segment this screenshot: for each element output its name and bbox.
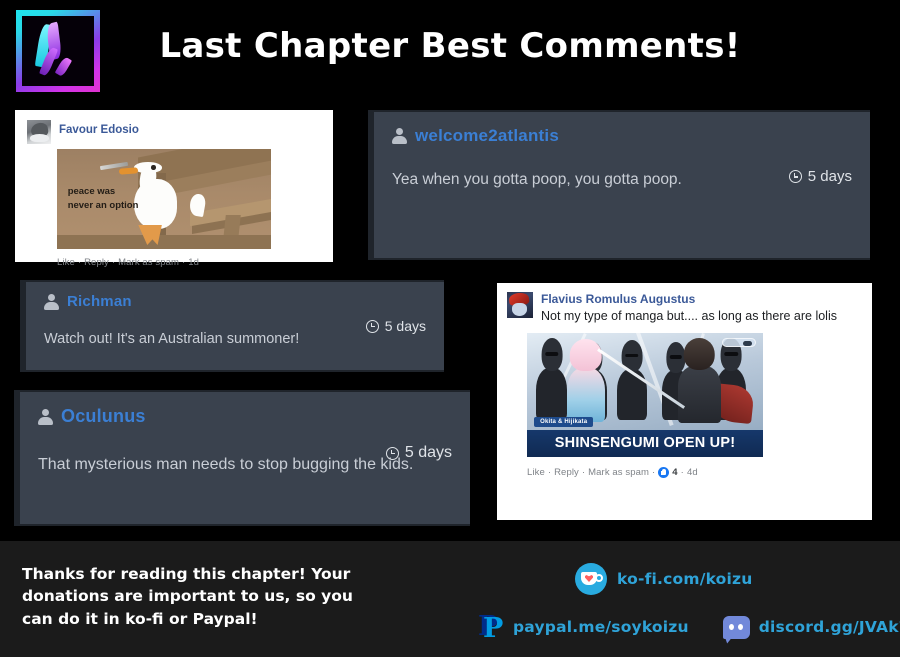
discord-link[interactable]: discord.gg/JVAk7Gk — [723, 616, 900, 639]
comment-timestamp: 5 days — [386, 444, 452, 462]
meme-bottom-bar: SHINSENGUMI OPEN UP! — [527, 430, 763, 457]
clock-icon — [366, 320, 379, 333]
meme-figure-silhouette — [536, 368, 567, 420]
mark-as-spam-action[interactable]: Mark as spam — [588, 467, 649, 478]
comment-header: Flavius Romulus Augustus Not my type of … — [507, 292, 862, 325]
comment-actions: Like · Reply · Mark as spam · 1d — [57, 257, 321, 268]
meme-caption: peace was never an option — [68, 185, 139, 214]
comment-author-name[interactable]: Favour Edosio — [59, 120, 139, 144]
comment-card-oculunus: Oculunus 5 days That mysterious man need… — [14, 390, 470, 526]
meme-corner-badge — [722, 338, 756, 347]
comment-card-favour-edosio: Favour Edosio peace was never an option — [15, 110, 333, 262]
comment-header: Oculunus — [38, 406, 452, 427]
paypal-link-label[interactable]: paypal.me/soykoizu — [513, 618, 689, 636]
payment-links-row: P P paypal.me/soykoizu discord.gg/JVAk7G… — [478, 613, 900, 641]
goose-head — [134, 162, 162, 173]
avatar — [507, 292, 533, 318]
timestamp-label: 5 days — [808, 168, 852, 185]
meme-floor — [57, 235, 271, 249]
comment-author-name[interactable]: Richman — [67, 293, 132, 310]
paypal-link[interactable]: P P paypal.me/soykoizu — [478, 613, 689, 641]
discord-icon — [723, 616, 750, 639]
meme-caption-line-1: peace was — [68, 185, 139, 199]
kofi-icon — [575, 563, 607, 595]
person-icon — [38, 409, 53, 425]
comment-header: Favour Edosio — [27, 120, 321, 144]
separator: · — [652, 467, 655, 478]
like-count: 4 — [672, 467, 677, 478]
separator: · — [548, 467, 551, 478]
comment-card-inner: Richman 5 days Watch out! It's an Austra… — [26, 282, 444, 370]
clock-icon — [386, 447, 399, 460]
page-title: Last Chapter Best Comments! — [0, 26, 900, 66]
meme-name-tag: Okita & Hijikata — [534, 417, 593, 427]
separator: · — [681, 467, 684, 478]
reply-action[interactable]: Reply — [554, 467, 579, 478]
comment-card-inner: welcome2atlantis 5 days Yea when you got… — [374, 112, 870, 258]
person-icon — [392, 128, 407, 144]
reply-action[interactable]: Reply — [84, 257, 109, 268]
page-footer: Thanks for reading this chapter! Your do… — [0, 541, 900, 657]
person-icon — [44, 294, 59, 310]
meme-caption-line-2: never an option — [68, 199, 139, 213]
comment-author-name[interactable]: Flavius Romulus Augustus — [541, 292, 837, 307]
attachment-shinsengumi-meme-image[interactable]: Okita & Hijikata SHINSENGUMI OPEN UP! — [527, 333, 763, 457]
timestamp-label: 5 days — [385, 318, 426, 334]
discord-link-label[interactable]: discord.gg/JVAk7Gk — [759, 618, 900, 636]
comment-header-text: Flavius Romulus Augustus Not my type of … — [541, 292, 837, 325]
comment-card-inner: Oculunus 5 days That mysterious man need… — [20, 392, 470, 524]
meme-figure-silhouette — [617, 369, 648, 420]
comment-body: Not my type of manga but.... as long as … — [541, 308, 837, 325]
like-action[interactable]: Like — [527, 467, 545, 478]
like-action[interactable]: Like — [57, 257, 75, 268]
separator: · — [112, 257, 115, 268]
separator: · — [182, 257, 185, 268]
comment-author-name[interactable]: Oculunus — [61, 406, 146, 427]
comment-author-name[interactable]: welcome2atlantis — [415, 126, 559, 146]
meme-bottom-text: SHINSENGUMI OPEN UP! — [555, 435, 735, 451]
attachment-goose-meme-image[interactable]: peace was never an option — [57, 149, 271, 249]
goose-eye — [151, 165, 156, 170]
comment-actions: Like · Reply · Mark as spam · 4 · 4d — [527, 467, 862, 478]
kofi-link-label[interactable]: ko-fi.com/koizu — [617, 570, 752, 588]
thumbs-up-icon — [658, 467, 669, 478]
paypal-glyph-front: P — [483, 615, 503, 642]
separator: · — [582, 467, 585, 478]
comment-body: Yea when you gotta poop, you gotta poop. — [392, 168, 852, 192]
comment-timestamp: 4d — [687, 467, 698, 478]
donation-message: Thanks for reading this chapter! Your do… — [22, 563, 362, 630]
comment-card-welcome2atlantis: welcome2atlantis 5 days Yea when you got… — [368, 110, 870, 260]
comment-card-flavius-romulus-augustus: Flavius Romulus Augustus Not my type of … — [497, 283, 872, 520]
clock-icon — [789, 170, 802, 183]
comment-card-richman: Richman 5 days Watch out! It's an Austra… — [20, 280, 444, 372]
comment-header: Richman — [44, 293, 426, 310]
kofi-handle — [595, 574, 603, 582]
comment-timestamp: 1d — [188, 257, 199, 268]
comments-highlight-page: Last Chapter Best Comments! Favour Edosi… — [0, 0, 900, 657]
page-header: Last Chapter Best Comments! — [0, 0, 900, 102]
mark-as-spam-action[interactable]: Mark as spam — [118, 257, 179, 268]
comment-timestamp: 5 days — [366, 318, 426, 334]
comment-header: welcome2atlantis — [392, 126, 852, 146]
goose-beak — [119, 167, 139, 174]
meme-character-okita — [567, 368, 605, 423]
meme-character-hijikata — [678, 366, 720, 423]
comment-timestamp: 5 days — [789, 168, 852, 185]
kofi-link[interactable]: ko-fi.com/koizu — [575, 563, 752, 595]
timestamp-label: 5 days — [405, 444, 452, 462]
avatar — [27, 120, 51, 144]
separator: · — [78, 257, 81, 268]
discord-tail — [725, 637, 733, 644]
paypal-icon: P P — [478, 613, 504, 641]
